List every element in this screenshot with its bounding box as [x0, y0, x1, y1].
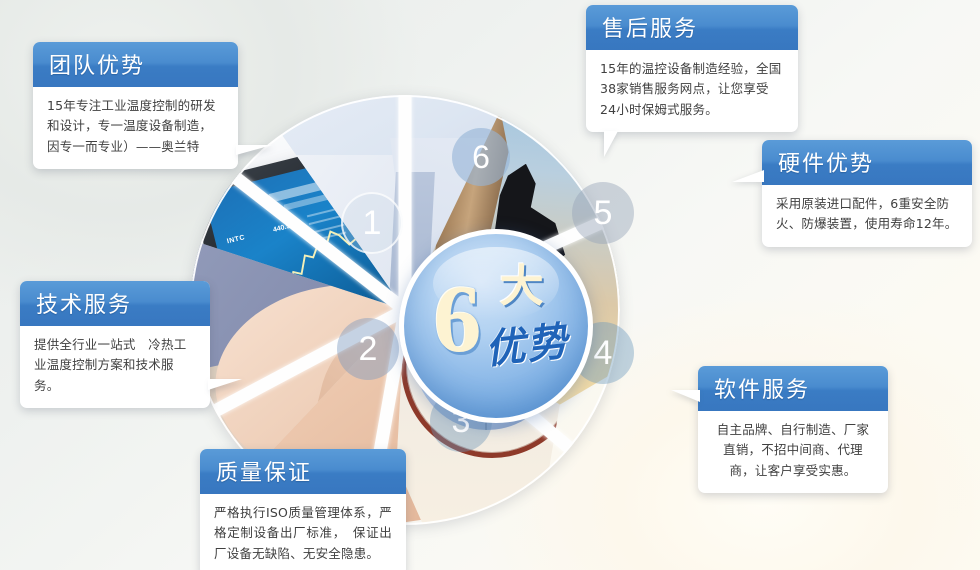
card-title-tech: 技术服务 — [20, 281, 210, 326]
callout-tail — [604, 131, 618, 157]
bullet-number-6[interactable]: 6 — [452, 128, 510, 186]
callout-tail — [236, 145, 272, 155]
callout-card-hardware[interactable]: 硬件优势 采用原装进口配件，6重安全防火、防爆装置，使用寿命12年。 — [762, 140, 972, 247]
center-badge-circle: 6 大 优势 — [399, 229, 593, 423]
callout-card-after-sales[interactable]: 售后服务 15年的温控设备制造经验，全国38家销售服务网点，让您享受24小时保姆… — [586, 5, 798, 132]
badge-word-youshi: 优势 — [483, 322, 571, 371]
card-body-software: 自主品牌、自行制造、厂家直销，不招中间商、代理商，让客户享受实惠。 — [698, 411, 888, 493]
callout-card-quality[interactable]: 质量保证 严格执行ISO质量管理体系，严格定制设备出厂标准， 保证出厂设备无缺陷… — [200, 449, 406, 570]
callout-card-team[interactable]: 团队优势 15年专注工业温度控制的研发和设计，专一温度设备制造，因专一而专业）—… — [33, 42, 238, 169]
callout-card-software[interactable]: 软件服务 自主品牌、自行制造、厂家直销，不招中间商、代理商，让客户享受实惠。 — [698, 366, 888, 493]
card-body-tech: 提供全行业一站式 冷热工业温度控制方案和技术服务。 — [20, 326, 210, 408]
callout-tail — [671, 390, 700, 402]
badge-number: 6 — [433, 271, 481, 367]
callout-tail — [208, 379, 242, 390]
card-body-team: 15年专注工业温度控制的研发和设计，专一温度设备制造，因专一而专业）——奥兰特 — [33, 87, 238, 169]
callout-tail — [732, 170, 764, 182]
card-title-hardware: 硬件优势 — [762, 140, 972, 185]
card-title-after-sales: 售后服务 — [586, 5, 798, 50]
card-title-quality: 质量保证 — [200, 449, 406, 494]
infographic-canvas: INTC 440.95 — [0, 0, 980, 570]
badge-char-da: 大 — [500, 265, 544, 309]
card-body-quality: 严格执行ISO质量管理体系，严格定制设备出厂标准， 保证出厂设备无缺陷、无安全隐… — [200, 494, 406, 570]
card-title-software: 软件服务 — [698, 366, 888, 411]
card-title-team: 团队优势 — [33, 42, 238, 87]
callout-card-tech[interactable]: 技术服务 提供全行业一站式 冷热工业温度控制方案和技术服务。 — [20, 281, 210, 408]
card-body-after-sales: 15年的温控设备制造经验，全国38家销售服务网点，让您享受24小时保姆式服务。 — [586, 50, 798, 132]
card-body-hardware: 采用原装进口配件，6重安全防火、防爆装置，使用寿命12年。 — [762, 185, 972, 247]
